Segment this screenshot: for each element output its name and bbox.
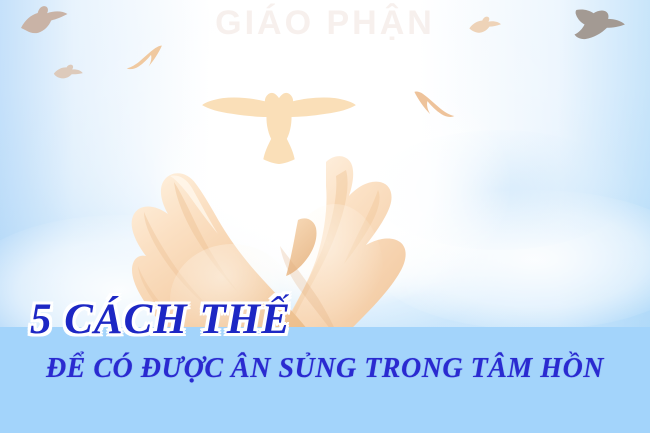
bird-top-right-small [468,14,502,38]
bird-top-right-large [570,6,626,44]
bird-top-left-large [16,1,72,42]
page-title: 5 CÁCH THẾ [30,296,291,344]
watermark-text: GIÁO PHẬN [0,4,650,43]
bird-mid-left-small [51,61,84,85]
page-subtitle: ĐỂ CÓ ĐƯỢC ÂN SỦNG TRONG TÂM HỒN [0,352,650,386]
bird-upper-left-swoop [125,44,167,80]
bird-mid-right-swoop [408,90,458,130]
poster: GIÁO PHẬN [0,0,650,433]
